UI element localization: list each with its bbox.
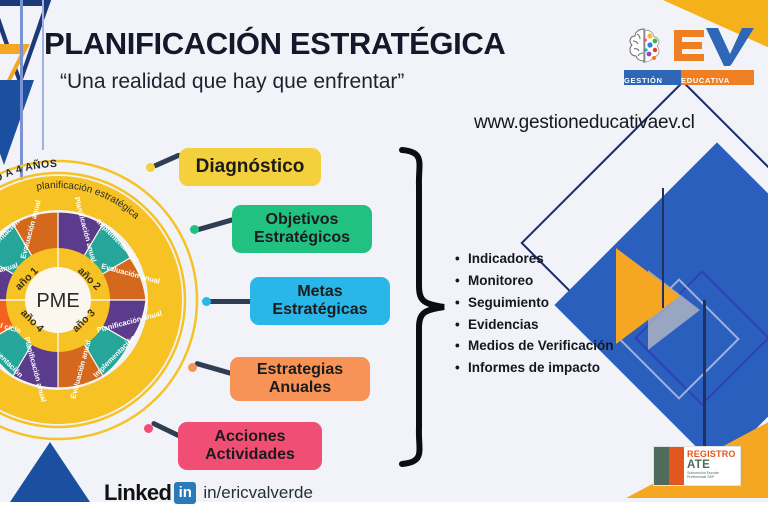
stage-box-acciones-actividades[interactable]: Acciones Actividades bbox=[178, 422, 322, 470]
ate-text-block: REGISTRO ATE Subvención Escolar Preferen… bbox=[684, 447, 740, 485]
linkedin-credit[interactable]: Linked in in/ericvalverde bbox=[104, 480, 313, 506]
monitoring-list: Indicadores Monitoreo Seguimiento Eviden… bbox=[455, 248, 660, 379]
decor-triangle-bottom-left-navy bbox=[0, 442, 110, 512]
connector-dot-estrategias bbox=[188, 363, 197, 372]
logo-tag-left-label: GESTIÓN bbox=[624, 76, 663, 85]
registro-ate-badge: REGISTRO ATE Subvención Escolar Preferen… bbox=[653, 446, 741, 486]
linkedin-icon: in bbox=[174, 482, 196, 504]
logo-tag-right-label: EDUCATIVA bbox=[681, 76, 730, 85]
list-item: Evidencias bbox=[455, 314, 660, 336]
ministry-flag-green bbox=[654, 447, 669, 485]
ministry-flag-orange bbox=[669, 447, 684, 485]
ministry-flag-icon bbox=[654, 447, 684, 485]
wheel-center-label: PME bbox=[36, 290, 79, 312]
stage-box-objetivos-estrategicos[interactable]: Objetivos Estratégicos bbox=[232, 205, 372, 253]
stage-box-estrategias-anuales[interactable]: Estrategias Anuales bbox=[230, 357, 370, 401]
ate-line-ate: ATE bbox=[687, 459, 738, 471]
infographic-canvas: PLANIFICACIÓN ESTRATÉGICA “Una realidad … bbox=[0, 0, 768, 512]
ate-line-sep-2: Preferencial SEP bbox=[687, 475, 738, 479]
logo-tagline-bar: GESTIÓN EDUCATIVA bbox=[624, 70, 754, 85]
list-item: Informes de impacto bbox=[455, 357, 660, 379]
linkedin-handle[interactable]: in/ericvalverde bbox=[203, 483, 313, 503]
stage-label-metas-line2: Estratégicas bbox=[272, 301, 367, 319]
stage-box-metas-estrategicas[interactable]: Metas Estratégicas bbox=[250, 277, 390, 325]
brain-icon bbox=[624, 26, 666, 66]
list-item: Seguimiento bbox=[455, 292, 660, 314]
page-subtitle: “Una realidad que hay que enfrentar” bbox=[60, 70, 404, 94]
stage-label-acciones-line2: Actividades bbox=[205, 446, 295, 464]
page-title: PLANIFICACIÓN ESTRATÉGICA bbox=[44, 26, 505, 62]
stage-label-metas-line1: Metas bbox=[272, 283, 367, 301]
stage-label-objetivos-line1: Objetivos bbox=[254, 211, 350, 229]
logo-marks bbox=[622, 24, 754, 68]
stage-box-diagnostico[interactable]: Diagnóstico bbox=[179, 148, 321, 186]
ate-line-registro: REGISTRO bbox=[687, 450, 738, 459]
connector-dot-metas bbox=[202, 297, 211, 306]
connector-dot-acciones bbox=[144, 424, 153, 433]
stage-label-diagnostico: Diagnóstico bbox=[196, 156, 305, 177]
connector-metas bbox=[208, 299, 254, 304]
logo-tag-left: GESTIÓN bbox=[624, 70, 681, 85]
stage-label-estrategias-line2: Anuales bbox=[257, 379, 343, 397]
list-item: Indicadores bbox=[455, 248, 660, 270]
list-item: Medios de Verificación bbox=[455, 335, 660, 357]
linkedin-wordmark: Linked bbox=[104, 480, 171, 506]
list-item: Monitoreo bbox=[455, 270, 660, 292]
grouping-brace bbox=[392, 146, 456, 468]
logo-tag-right: EDUCATIVA bbox=[681, 70, 754, 85]
stage-label-objetivos-line2: Estratégicos bbox=[254, 229, 350, 247]
website-url[interactable]: www.gestioneducativaev.cl bbox=[474, 112, 695, 134]
brand-logo[interactable]: GESTIÓN EDUCATIVA bbox=[622, 24, 754, 86]
connector-dot-objetivos bbox=[190, 225, 199, 234]
pme-cycle-wheel: PME año 1 año 2 año 3 año 4 Evaluación a… bbox=[0, 150, 208, 450]
connector-dot-diagnostico bbox=[146, 163, 155, 172]
stage-label-acciones-line1: Acciones bbox=[205, 428, 295, 446]
stage-label-estrategias-line1: Estrategias bbox=[257, 361, 343, 379]
ev-monogram-icon bbox=[670, 24, 754, 68]
decor-line-right-2 bbox=[662, 188, 664, 308]
